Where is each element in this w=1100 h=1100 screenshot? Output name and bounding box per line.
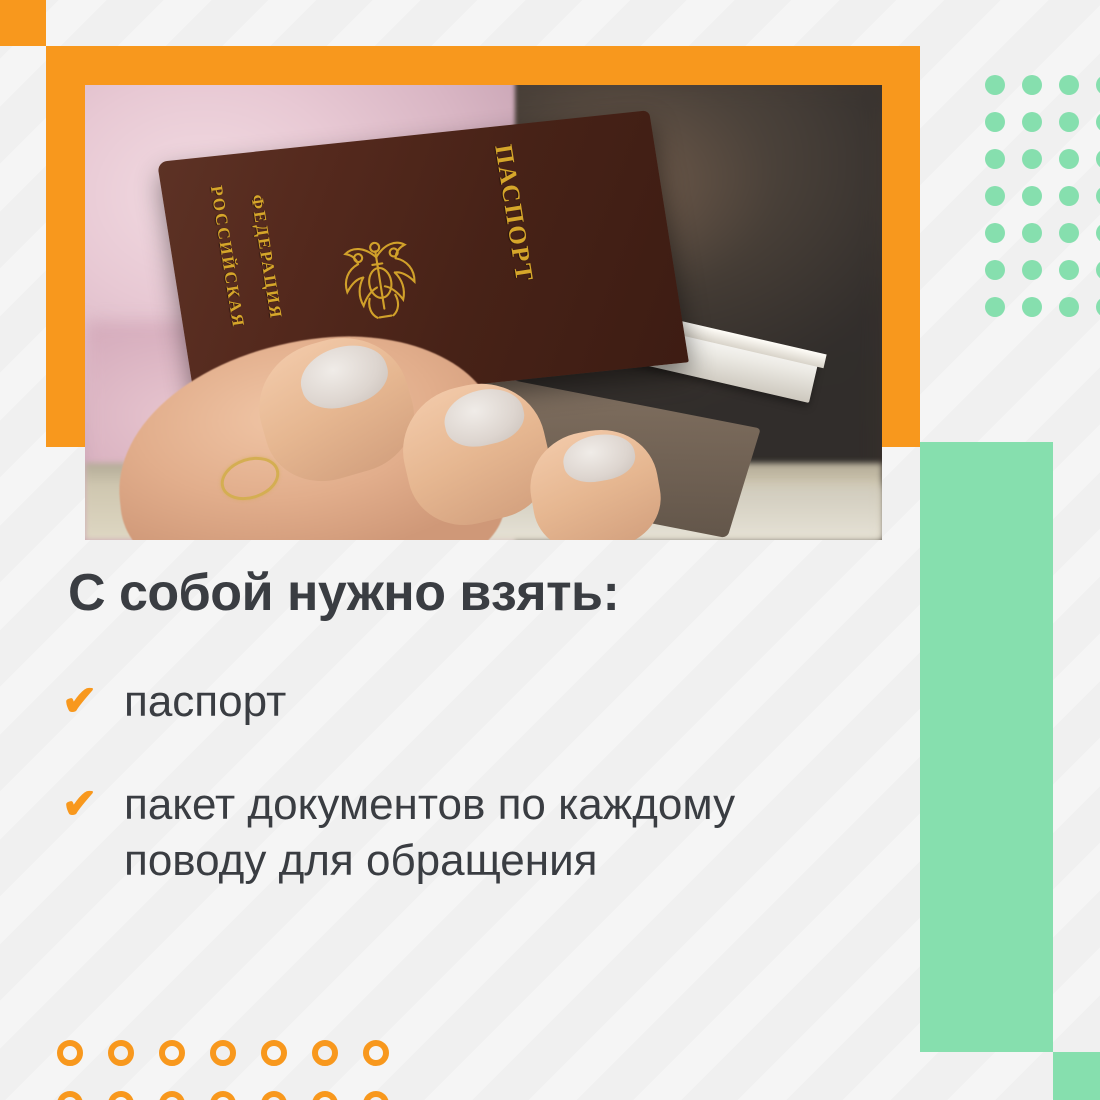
orange-ring [57, 1040, 83, 1066]
green-dot [1059, 297, 1079, 317]
green-dot [1096, 75, 1100, 95]
orange-ring [210, 1040, 236, 1066]
orange-ring [108, 1091, 134, 1100]
green-dot [1096, 297, 1100, 317]
green-dot [1096, 186, 1100, 206]
orange-corner-square [0, 0, 46, 46]
green-dot [1022, 112, 1042, 132]
green-dot [1022, 186, 1042, 206]
green-dot [985, 75, 1005, 95]
orange-ring [312, 1091, 338, 1100]
green-dot [1059, 260, 1079, 280]
orange-ring-grid [57, 1040, 457, 1100]
orange-ring [108, 1040, 134, 1066]
checkmark-icon: ✔ [62, 777, 124, 825]
orange-ring [159, 1091, 185, 1100]
green-dot [1059, 75, 1079, 95]
green-dot [985, 112, 1005, 132]
orange-ring [210, 1091, 236, 1100]
green-dot [985, 186, 1005, 206]
green-corner-square [1053, 1052, 1100, 1100]
green-dot [985, 260, 1005, 280]
orange-ring [363, 1040, 389, 1066]
green-dot-grid [985, 75, 1100, 335]
green-dot [1096, 112, 1100, 132]
list-item: ✔ паспорт [62, 674, 900, 730]
green-dot [1022, 149, 1042, 169]
green-dot [985, 223, 1005, 243]
orange-ring [159, 1040, 185, 1066]
green-dot [1022, 75, 1042, 95]
list-item-label: пакет документов по каждому поводу для о… [124, 777, 884, 890]
checklist: ✔ паспорт ✔ пакет документов по каждому … [0, 674, 900, 889]
green-dot [1096, 260, 1100, 280]
page-title: С собой нужно взять: [68, 565, 900, 622]
orange-ring [261, 1091, 287, 1100]
orange-ring [363, 1091, 389, 1100]
passport-photo: РОССИЙСКАЯ ФЕДЕРАЦИЯ [85, 85, 882, 540]
green-dot [985, 149, 1005, 169]
list-item-label: паспорт [124, 674, 286, 730]
orange-ring [261, 1040, 287, 1066]
text-content: С собой нужно взять: ✔ паспорт ✔ пакет д… [0, 565, 900, 935]
green-dot [1096, 223, 1100, 243]
poster-root: РОССИЙСКАЯ ФЕДЕРАЦИЯ [0, 0, 1100, 1100]
orange-ring [312, 1040, 338, 1066]
green-dot [1096, 149, 1100, 169]
checkmark-icon: ✔ [62, 674, 124, 722]
green-dot [1059, 112, 1079, 132]
green-dot [1022, 260, 1042, 280]
green-dot [1059, 186, 1079, 206]
green-dot [1059, 223, 1079, 243]
green-dot [985, 297, 1005, 317]
green-dot [1022, 297, 1042, 317]
green-vertical-bar [920, 442, 1053, 1052]
list-item: ✔ пакет документов по каждому поводу для… [62, 777, 900, 890]
green-dot [1022, 223, 1042, 243]
russian-eagle-emblem-icon [300, 211, 460, 350]
orange-ring [57, 1091, 83, 1100]
green-dot [1059, 149, 1079, 169]
